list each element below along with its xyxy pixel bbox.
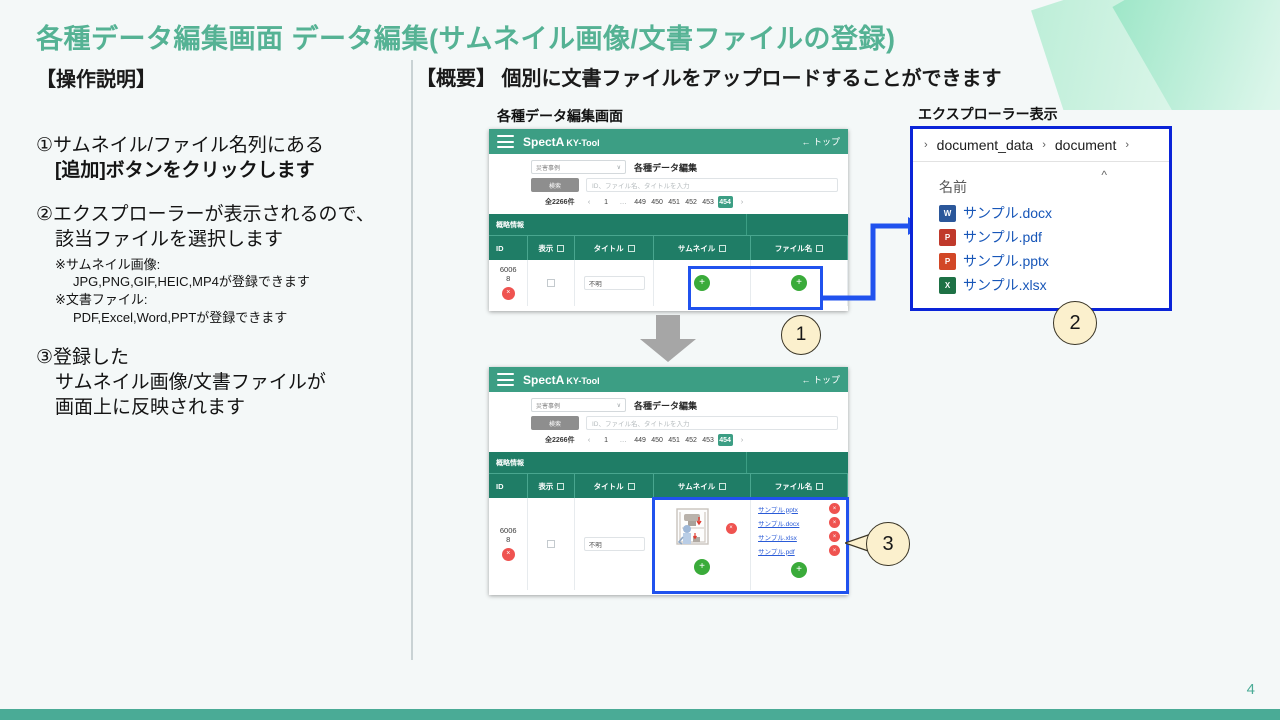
page-1[interactable]: 1 [599,434,614,446]
table-header: ID 表示 タイトル サムネイル ファイル名 [489,473,848,498]
step-3: ③登録した サムネイル画像/文書ファイルが 画面上に反映されます [36,345,406,421]
file-entry: サンプル.docx × [758,517,847,528]
file-link[interactable]: サンプル.pdf [758,546,795,556]
remove-file-button[interactable]: × [829,531,840,542]
filter-select[interactable]: 災害事例∨ [531,160,626,174]
breadcrumb-document[interactable]: document [1055,137,1116,153]
col-header-title: タイトル [575,474,654,498]
add-file-button[interactable]: + [791,562,807,578]
checkbox-icon [719,483,726,490]
col-header-display: 表示 [528,236,575,260]
instruction-steps: ①サムネイル/ファイル名列にある [追加]ボタンをクリックします ②エクスプロー… [36,133,406,439]
cell-title: 不明 [575,498,654,590]
callout-2: 2 [1053,301,1097,345]
page-next[interactable]: › [735,434,750,446]
file-name: サンプル.xlsx [963,275,1047,295]
add-thumbnail-button[interactable]: + [694,559,710,575]
cell-filename: サンプル.pptx × サンプル.docx × サンプル.xlsx × サンプル… [751,498,848,590]
page-1[interactable]: 1 [599,196,614,208]
sort-caret-icon[interactable]: ^ [1101,168,1107,182]
add-file-button[interactable]: + [791,275,807,291]
section-band: 概略情報 [489,452,848,473]
page-449[interactable]: 449 [633,434,648,446]
step-3-line-2: サムネイル画像/文書ファイルが [36,370,406,395]
page-452[interactable]: 452 [684,196,699,208]
page-next[interactable]: › [735,196,750,208]
file-name: サンプル.pdf [963,227,1042,247]
cell-display [528,498,575,590]
file-entry: サンプル.xlsx × [758,531,847,542]
col-header-title: タイトル [575,236,654,260]
remove-file-button[interactable]: × [829,545,840,556]
pagination-row: 全2266件 ‹ 1 … 449 450 451 452 453 454 › [489,194,848,211]
checkbox-icon [628,483,635,490]
checkbox-icon [816,483,823,490]
step-2-note-3: ※文書ファイル: [36,291,406,309]
add-thumbnail-button[interactable]: + [694,275,710,291]
cell-id: 60068 × [489,498,528,590]
explorer-file-list: ^ 名前 W サンプル.docx P サンプル.pdf P サンプル.pptx … [913,162,1169,297]
file-entry: サンプル.pdf × [758,545,847,556]
powerpoint-icon: P [939,253,956,270]
file-link[interactable]: サンプル.docx [758,518,799,528]
checkbox-icon [628,245,635,252]
pdf-icon: P [939,229,956,246]
explorer-breadcrumb[interactable]: › document_data › document › [913,129,1169,162]
cell-title: 不明 [575,260,654,306]
chevron-right-icon: › [1042,139,1046,151]
display-checkbox[interactable] [547,540,555,548]
col-header-id: ID [489,474,528,498]
section-band-label: 概略情報 [489,214,747,235]
step-2-note-2: JPG,PNG,GIF,HEIC,MP4が登録できます [36,273,406,291]
hamburger-icon[interactable] [497,373,514,386]
step-2: ②エクスプローラーが表示されるので、 該当ファイルを選択します ※サムネイル画像… [36,202,406,327]
top-link[interactable]: ← トップ [801,373,840,386]
chevron-right-icon: › [924,139,928,151]
col-header-id: ID [489,236,528,260]
decor-bottom-bar [0,709,1280,720]
hamburger-icon[interactable] [497,135,514,148]
page-449[interactable]: 449 [633,196,648,208]
page-ellipsis: … [616,196,631,208]
page-451[interactable]: 451 [667,434,682,446]
file-link[interactable]: サンプル.xlsx [758,532,797,542]
page-453[interactable]: 453 [701,434,716,446]
step-3-line-1: ③登録した [36,345,406,370]
step-2-note-1: ※サムネイル画像: [36,256,406,274]
step-1-line-1: ①サムネイル/ファイル名列にある [36,133,406,158]
page-number: 4 [1247,681,1255,698]
remove-thumbnail-button[interactable]: × [726,523,737,534]
col-header-thumbnail: サムネイル [654,474,751,498]
callout-1: 1 [781,315,821,355]
step-3-line-3: 画面上に反映されます [36,395,406,420]
total-count: 全2266件 [545,197,575,207]
column-divider [411,60,413,660]
app-brand: SpectAKY-Tool [523,135,600,149]
page-ellipsis: … [616,434,631,446]
page-453[interactable]: 453 [701,196,716,208]
table-row: 60068 × 不明 [489,498,848,590]
total-count: 全2266件 [545,435,575,445]
search-button[interactable]: 検索 [531,178,579,192]
page-title: 各種データ編集画面 データ編集(サムネイル画像/文書ファイルの登録) [36,17,895,56]
checkbox-icon [719,245,726,252]
remove-file-button[interactable]: × [829,517,840,528]
app-toolbar: 災害事例∨ 各種データ編集 検索 ID、ファイル名、タイトルを入力 全2266件… [489,154,848,214]
file-entry: サンプル.pptx × [758,503,847,514]
col-header-thumbnail: サムネイル [654,236,751,260]
step-1: ①サムネイル/ファイル名列にある [追加]ボタンをクリックします [36,133,406,184]
slide-root: 各種データ編集画面 データ編集(サムネイル画像/文書ファイルの登録) 4 【操作… [0,0,1280,720]
step-2-note-4: PDF,Excel,Word,PPTが登録できます [36,309,406,327]
step-2-line-1: ②エクスプローラーが表示されるので、 [36,202,406,227]
col-header-filename: ファイル名 [751,474,848,498]
flow-arrow-to-explorer [815,186,925,306]
list-item[interactable]: W サンプル.docx [913,201,1169,225]
checkbox-icon [557,483,564,490]
page-450[interactable]: 450 [650,196,665,208]
table-header: ID 表示 タイトル サムネイル ファイル名 [489,235,848,260]
delete-row-button[interactable]: × [502,548,515,561]
cell-thumbnail: × + [654,498,751,590]
page-452[interactable]: 452 [684,434,699,446]
breadcrumb-document-data[interactable]: document_data [937,137,1034,153]
app-screenshot-after: SpectAKY-Tool ← トップ 災害事例∨ 各種データ編集 検索 ID、… [489,367,848,595]
checkbox-icon [557,245,564,252]
explorer-window: › document_data › document › ^ 名前 W サンプル… [910,126,1172,311]
page-450[interactable]: 450 [650,434,665,446]
step-1-line-2: [追加]ボタンをクリックします [55,160,315,181]
cell-id: 60068 × [489,260,528,306]
worker-illustration-thumbnail [668,504,718,552]
section-band-label: 概略情報 [489,452,747,473]
page-451[interactable]: 451 [667,196,682,208]
chevron-right-icon: › [1125,139,1129,151]
search-button[interactable]: 検索 [531,416,579,430]
explorer-column-name: 名前 [913,166,1169,201]
app-titlebar: SpectAKY-Tool ← トップ [489,129,848,154]
delete-row-button[interactable]: × [502,287,515,300]
chevron-down-icon: ∨ [617,164,621,171]
file-name: サンプル.docx [963,203,1052,223]
page-454-current[interactable]: 454 [718,434,733,446]
cell-display [528,260,575,306]
caption-app-screen: 各種データ編集画面 [497,106,623,126]
app-page-label: 各種データ編集 [634,161,697,174]
list-item[interactable]: P サンプル.pptx [913,249,1169,273]
search-input[interactable]: ID、ファイル名、タイトルを入力 [586,416,838,430]
page-454-current[interactable]: 454 [718,196,733,208]
search-input[interactable]: ID、ファイル名、タイトルを入力 [586,178,838,192]
step-2-line-2: 該当ファイルを選択します [36,227,406,252]
list-item[interactable]: P サンプル.pdf [913,225,1169,249]
app-brand: SpectAKY-Tool [523,373,600,387]
left-section-heading: 【操作説明】 [36,63,156,92]
app-titlebar: SpectAKY-Tool ← トップ [489,367,848,392]
right-section-heading: 【概要】 個別に文書ファイルをアップロードすることができます [416,62,1002,91]
app-toolbar: 災害事例∨ 各種データ編集 検索 ID、ファイル名、タイトルを入力 全2266件… [489,392,848,452]
down-arrow-icon [638,315,698,363]
callout-3: 3 [866,522,910,566]
page-prev[interactable]: ‹ [582,434,597,446]
excel-icon: X [939,277,956,294]
remove-file-button[interactable]: × [829,503,840,514]
file-link[interactable]: サンプル.pptx [758,504,798,514]
page-prev[interactable]: ‹ [582,196,597,208]
decor-corner-top-right [1020,0,1280,110]
list-item[interactable]: X サンプル.xlsx [913,273,1169,297]
word-icon: W [939,205,956,222]
table-row: 60068 × 不明 + + [489,260,848,306]
title-input[interactable]: 不明 [584,276,645,290]
col-header-display: 表示 [528,474,575,498]
title-input[interactable]: 不明 [584,537,645,551]
display-checkbox[interactable] [547,279,555,287]
filter-select[interactable]: 災害事例∨ [531,398,626,412]
section-band: 概略情報 [489,214,848,235]
app-page-label: 各種データ編集 [634,399,697,412]
caption-explorer: エクスプローラー表示 [918,104,1058,124]
top-link[interactable]: ← トップ [801,135,840,148]
pagination-row: 全2266件 ‹ 1 … 449 450 451 452 453 454 › [489,432,848,449]
file-name: サンプル.pptx [963,251,1049,271]
chevron-down-icon: ∨ [617,402,621,409]
cell-thumbnail: + [654,260,751,306]
app-screenshot-before: SpectAKY-Tool ← トップ 災害事例∨ 各種データ編集 検索 ID、… [489,129,848,311]
